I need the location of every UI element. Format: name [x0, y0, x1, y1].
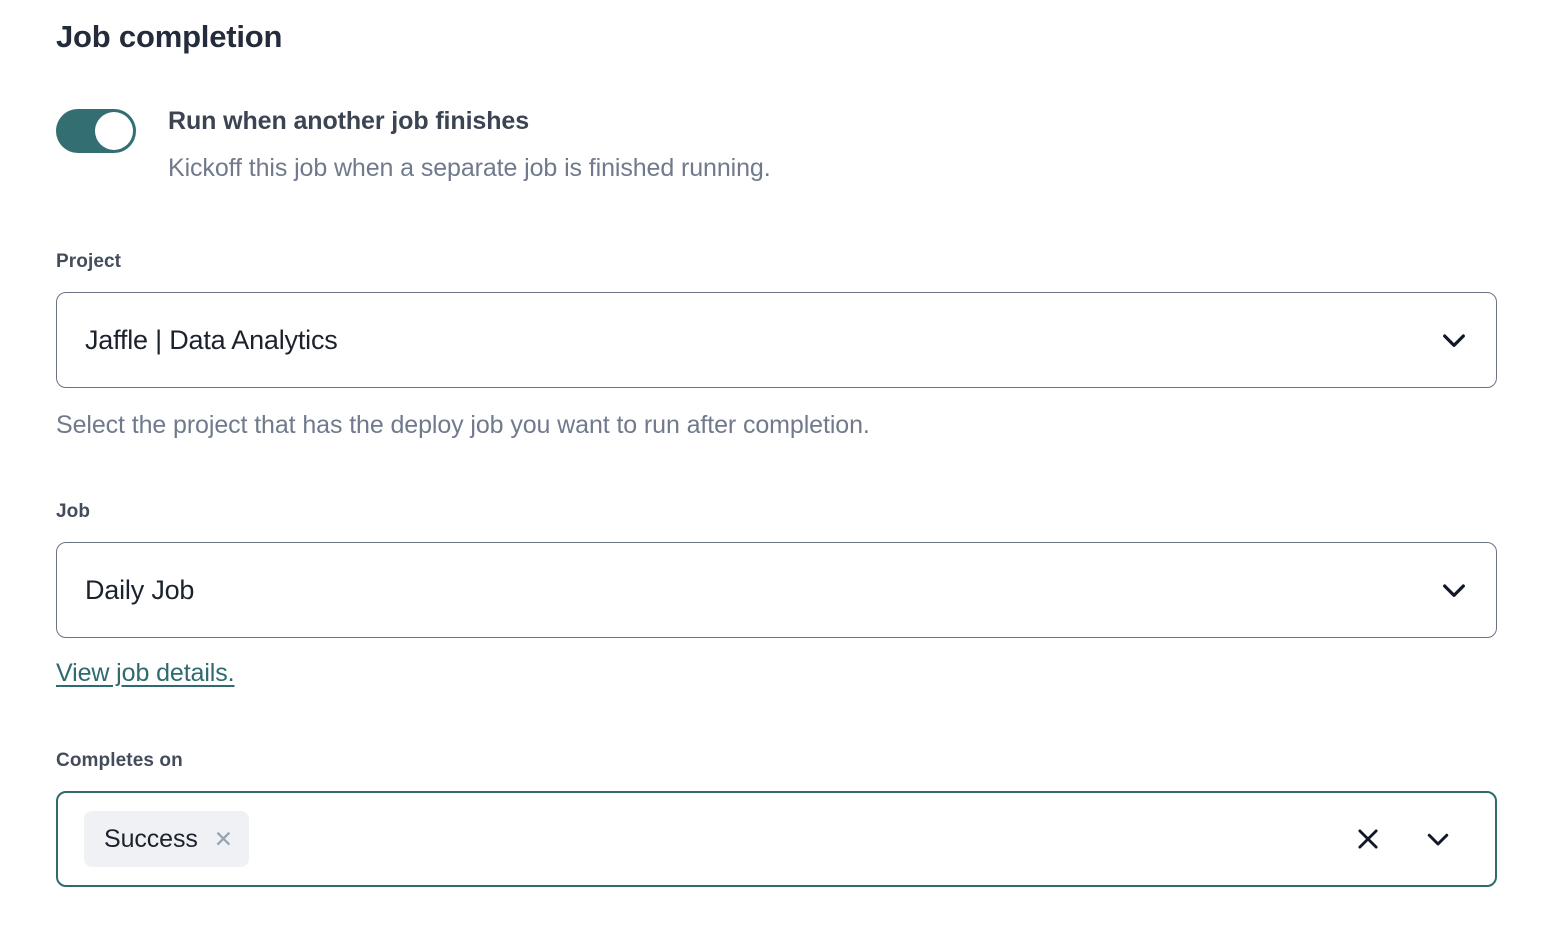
chevron-down-icon[interactable] — [1436, 322, 1472, 358]
job-select-value: Daily Job — [85, 543, 194, 637]
completes-on-label: Completes on — [56, 749, 183, 773]
selected-chip: Success ✕ — [84, 811, 249, 867]
project-select-value: Jaffle | Data Analytics — [85, 293, 338, 387]
view-job-details-link[interactable]: View job details. — [56, 659, 235, 688]
completes-on-multiselect[interactable]: Success ✕ — [56, 791, 1497, 887]
job-select[interactable]: Daily Job — [56, 542, 1497, 638]
chevron-down-icon[interactable] — [1436, 572, 1472, 608]
project-label: Project — [56, 250, 121, 274]
project-help-text: Select the project that has the deploy j… — [56, 409, 870, 441]
project-select[interactable]: Jaffle | Data Analytics — [56, 292, 1497, 388]
page-title: Job completion — [56, 16, 282, 58]
toggle-description: Kickoff this job when a separate job is … — [168, 152, 1488, 184]
close-icon[interactable]: ✕ — [214, 828, 233, 851]
clear-icon[interactable] — [1351, 822, 1385, 856]
run-when-another-job-finishes-toggle[interactable] — [56, 109, 136, 153]
chevron-down-icon[interactable] — [1421, 822, 1455, 856]
job-label: Job — [56, 500, 90, 524]
toggle-label: Run when another job finishes — [168, 104, 1488, 138]
job-completion-settings-panel: Job completion Run when another job fini… — [0, 0, 1564, 936]
selected-chip-label: Success — [104, 825, 198, 854]
toggle-text-block: Run when another job finishes Kickoff th… — [168, 104, 1488, 184]
toggle-knob — [95, 112, 133, 150]
